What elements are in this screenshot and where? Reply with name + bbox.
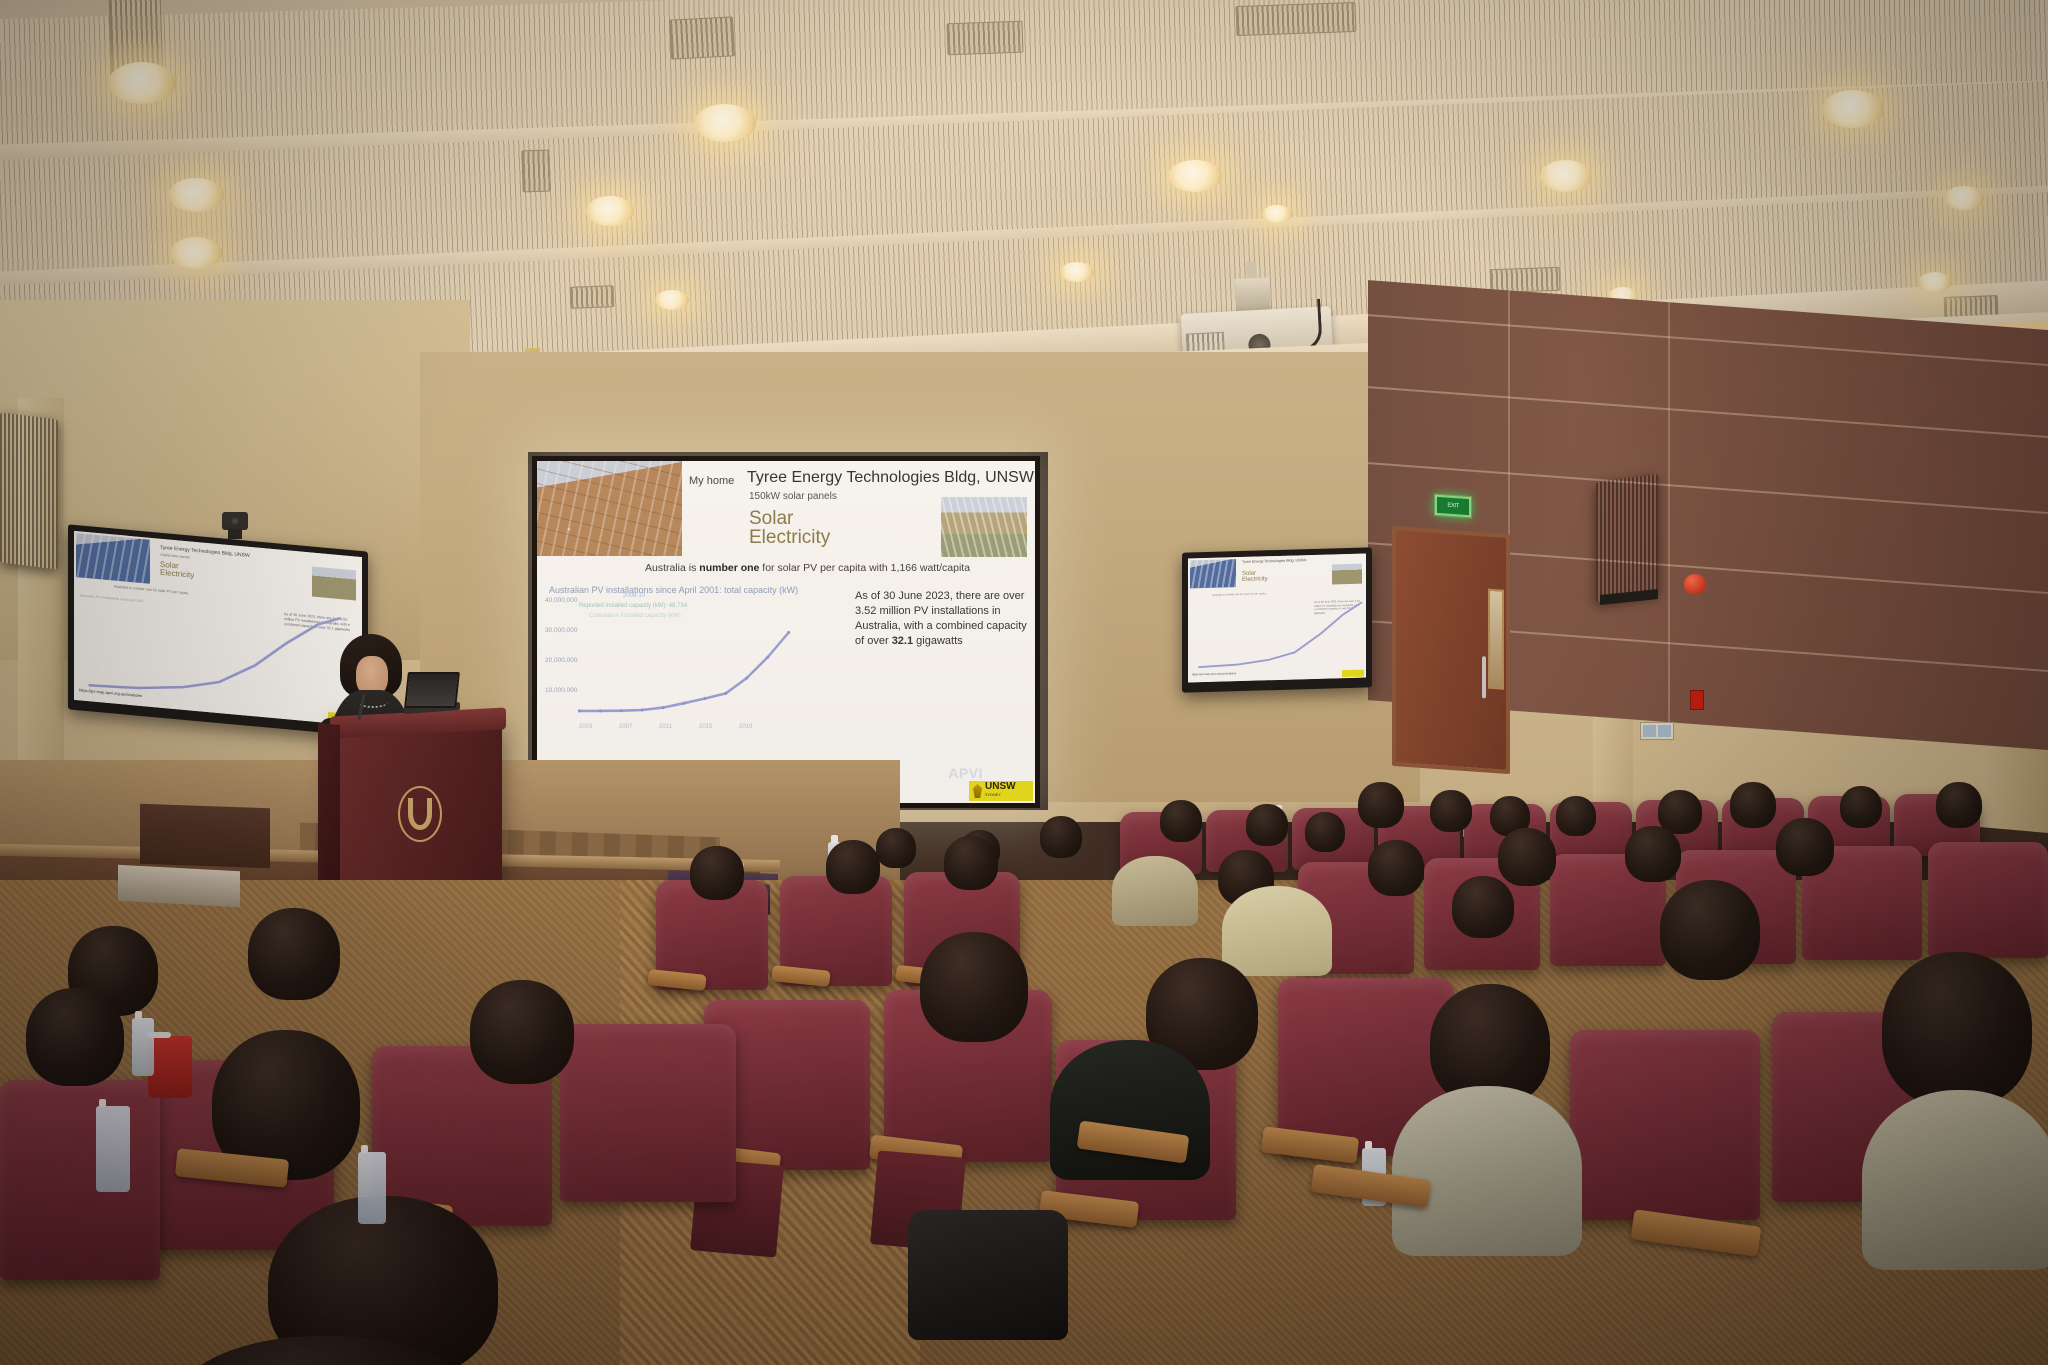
audience-head bbox=[1556, 796, 1596, 836]
slide-claim: Australia is number one for solar PV per… bbox=[645, 562, 970, 574]
seat-backrest[interactable] bbox=[1928, 842, 2048, 958]
exit-sign: EXIT bbox=[1434, 494, 1472, 519]
audience-head-foreground bbox=[248, 908, 340, 1000]
audience-head bbox=[1430, 790, 1472, 832]
audience-shoulders bbox=[1862, 1090, 2048, 1270]
unsw-logo-badge: UNSW SYDNEY bbox=[969, 781, 1033, 801]
audience-head bbox=[876, 828, 916, 868]
slide-headline-line1: Solar bbox=[749, 509, 830, 528]
left-display-monitor: Tyree Energy Technologies Bldg, UNSW 150… bbox=[68, 524, 368, 736]
audience-head bbox=[1368, 840, 1424, 896]
podium-side bbox=[318, 723, 340, 889]
slide-photo-building-aerial bbox=[941, 497, 1027, 557]
slide-claim-prefix: Australia is bbox=[645, 562, 699, 574]
ceiling-downlight bbox=[586, 196, 634, 226]
audience-head-foreground bbox=[1882, 952, 2032, 1107]
wall-control-panel[interactable] bbox=[1640, 722, 1674, 740]
unsw-logo-text: UNSW SYDNEY bbox=[985, 782, 1016, 800]
chart-caption: Australian PV installations since April … bbox=[549, 585, 798, 595]
ceiling-downlight bbox=[168, 178, 224, 212]
drink-cup bbox=[148, 1036, 192, 1098]
ceiling-downlight bbox=[655, 290, 689, 310]
audience-head bbox=[1498, 828, 1556, 886]
ceiling-downlight bbox=[1822, 90, 1884, 128]
backpack bbox=[908, 1210, 1068, 1340]
audience-head bbox=[1730, 782, 1776, 828]
fire-alarm-bell bbox=[1684, 574, 1706, 594]
audience-head-foreground bbox=[920, 932, 1028, 1042]
x-tick-label: 2011 bbox=[659, 724, 672, 730]
audience-head bbox=[1936, 782, 1982, 828]
audience-head bbox=[1452, 876, 1514, 938]
stage-side-panel bbox=[140, 804, 270, 869]
audience-head bbox=[1040, 816, 1082, 858]
audience-shoulders bbox=[1222, 886, 1332, 976]
audience-head bbox=[690, 846, 744, 900]
x-tick-label: 2003 bbox=[579, 724, 592, 730]
audience-head bbox=[944, 836, 998, 890]
ceiling-downlight bbox=[694, 104, 756, 142]
wall-speaker-left bbox=[0, 412, 58, 569]
fire-alarm-pull[interactable] bbox=[1690, 690, 1704, 710]
y-tick-label: 40,000,000 bbox=[545, 597, 578, 604]
audience-head-foreground bbox=[470, 980, 574, 1084]
water-bottle bbox=[96, 1106, 130, 1192]
university-crest-emblem bbox=[398, 786, 442, 842]
wall-seam-vertical bbox=[1668, 302, 1670, 722]
slide-claim-emphasis: number one bbox=[699, 562, 759, 574]
audience-head bbox=[1160, 800, 1202, 842]
slide-photo-rooftop-panels bbox=[537, 461, 682, 556]
seat-backrest[interactable] bbox=[1570, 1030, 1760, 1220]
ceiling-downlight bbox=[1944, 186, 1984, 210]
slide-headline: Solar Electricity bbox=[749, 509, 830, 547]
slide-note-suffix: gigawatts bbox=[913, 635, 963, 647]
audience-head bbox=[1305, 812, 1345, 852]
audience-head bbox=[1246, 804, 1288, 846]
audience-head bbox=[1625, 826, 1681, 882]
university-crest-u-icon bbox=[408, 798, 431, 830]
slide-title-main: Tyree Energy Technologies Bldg, UNSW – bbox=[747, 469, 1040, 486]
x-tick-label: 2007 bbox=[619, 724, 632, 730]
audience-head-foreground bbox=[1660, 880, 1760, 980]
slide-claim-suffix: for solar PV per capita with 1,166 watt/… bbox=[759, 562, 970, 574]
wall-seam bbox=[1368, 386, 2048, 438]
ceiling-downlight bbox=[1060, 262, 1094, 282]
camera-bracket bbox=[228, 529, 242, 539]
presenter-laptop-screen[interactable] bbox=[404, 672, 460, 708]
x-tick-label: 2015 bbox=[699, 724, 712, 730]
audience-head bbox=[1776, 818, 1834, 876]
ceiling-downlight bbox=[1168, 160, 1222, 192]
hvac-vent bbox=[1236, 2, 1357, 36]
unsw-crest-icon bbox=[973, 784, 982, 798]
exit-door[interactable] bbox=[1392, 526, 1510, 774]
x-tick-label: 2019 bbox=[739, 724, 752, 730]
wall-seam bbox=[1368, 314, 2048, 366]
projection-screen: My home Tyree Energy Technologies Bldg, … bbox=[532, 456, 1040, 808]
seat-backrest[interactable] bbox=[560, 1024, 736, 1202]
water-bottle bbox=[358, 1152, 386, 1224]
ceiling-downlight bbox=[170, 237, 222, 269]
ceiling-downlight bbox=[1540, 160, 1592, 192]
hvac-vent bbox=[669, 16, 735, 59]
slide-note: As of 30 June 2023, there are over 3.52 … bbox=[855, 589, 1027, 649]
projector-mount bbox=[1235, 277, 1271, 313]
y-tick-label: 30,000,000 bbox=[545, 627, 578, 634]
slide-note-value: 32.1 bbox=[892, 635, 913, 647]
lecture-hall-photo: EXIT Tyree Energy Technologies Bldg, UNS… bbox=[0, 0, 2048, 1365]
audience-head bbox=[1358, 782, 1404, 828]
slide-subtitle: 150kW solar panels bbox=[749, 491, 837, 502]
audience-head-foreground bbox=[26, 988, 124, 1086]
hvac-vent bbox=[570, 285, 615, 309]
slide-title: Tyree Energy Technologies Bldg, UNSW – m… bbox=[747, 469, 1040, 487]
slide-my-home-label: My home bbox=[689, 475, 734, 487]
audience-head bbox=[826, 840, 880, 894]
right-display-monitor: Tyree Energy Technologies Bldg, UNSW Sol… bbox=[1182, 547, 1372, 692]
right-monitor-screen: Tyree Energy Technologies Bldg, UNSW Sol… bbox=[1188, 554, 1366, 683]
hvac-vent bbox=[946, 21, 1023, 56]
left-monitor-screen: Tyree Energy Technologies Bldg, UNSW 150… bbox=[74, 531, 362, 726]
audience-head bbox=[1840, 786, 1882, 828]
control-switch[interactable] bbox=[1658, 725, 1671, 737]
presentation-slide: My home Tyree Energy Technologies Bldg, … bbox=[537, 461, 1035, 803]
chart-line-svg bbox=[575, 597, 793, 719]
audience-shoulders bbox=[1112, 856, 1198, 926]
pv-capacity-chart: 2008-10 Reported installed capacity (kW)… bbox=[545, 597, 795, 719]
door-window bbox=[1488, 589, 1504, 690]
y-tick-label: 20,000,000 bbox=[545, 657, 578, 664]
ceiling-downlight bbox=[1262, 205, 1292, 223]
control-switch[interactable] bbox=[1643, 725, 1656, 737]
wall-camera bbox=[222, 512, 248, 530]
seat-backrest[interactable] bbox=[0, 1080, 160, 1280]
ceiling-downlight bbox=[108, 62, 176, 104]
audience-shoulders bbox=[1392, 1086, 1582, 1256]
hvac-vent bbox=[521, 150, 550, 193]
unsw-logo-sub: SYDNEY bbox=[985, 791, 1016, 800]
exit-sign-label: EXIT bbox=[1437, 497, 1469, 515]
water-bottle bbox=[132, 1018, 154, 1076]
wall-speaker-right bbox=[1596, 474, 1658, 603]
apvi-watermark: APVI bbox=[948, 765, 983, 781]
side-table bbox=[118, 865, 240, 907]
ceiling-downlight bbox=[1918, 272, 1952, 292]
slide-headline-line2: Electricity bbox=[749, 528, 830, 547]
y-tick-label: 10,000,000 bbox=[545, 687, 578, 694]
door-handle[interactable] bbox=[1482, 656, 1486, 698]
